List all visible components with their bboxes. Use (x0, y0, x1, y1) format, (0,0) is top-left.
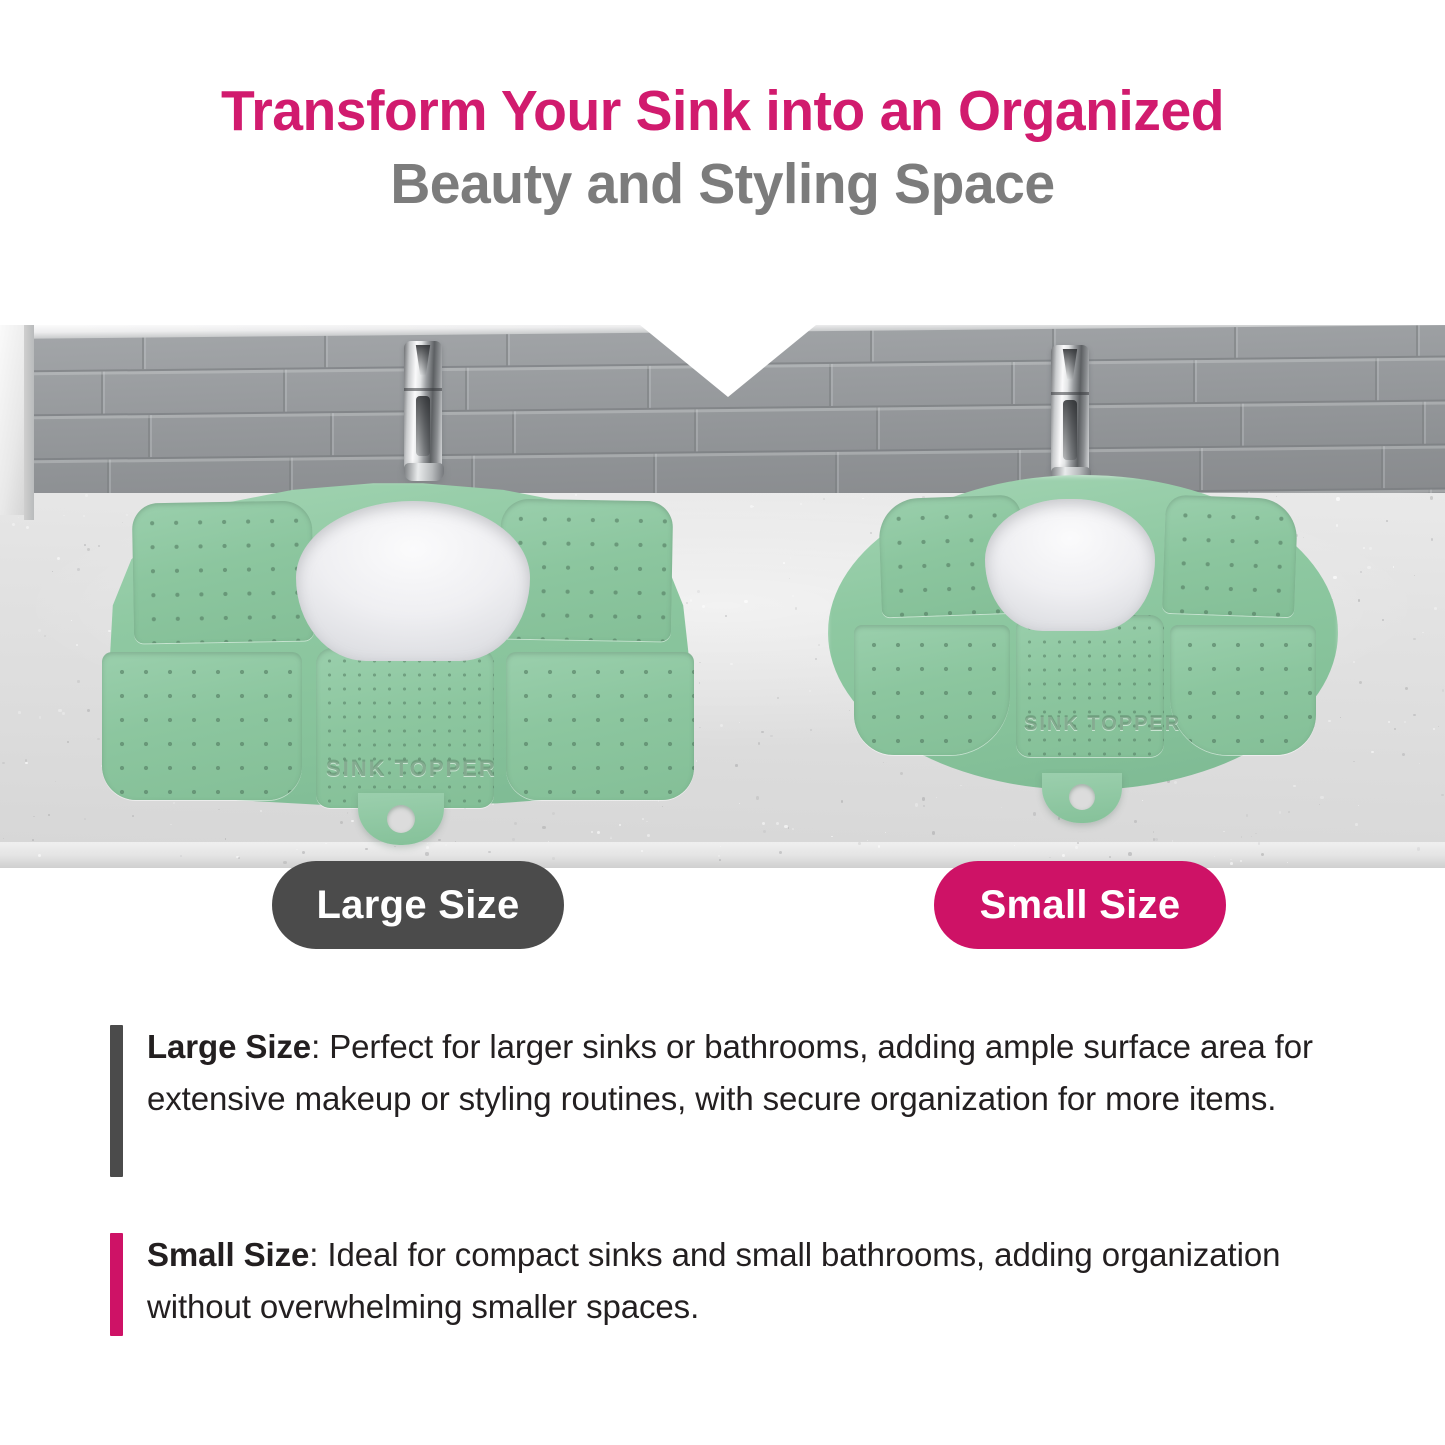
mat-panel-center (1016, 615, 1164, 757)
counter-speckle (815, 658, 817, 660)
description-small-term: Small Size (147, 1236, 309, 1273)
panel-dot-texture (1170, 625, 1316, 755)
counter-speckle (365, 848, 367, 850)
panel-dot-texture (132, 500, 314, 643)
counter-speckle (646, 821, 647, 822)
counter-speckle (1388, 721, 1390, 723)
counter-speckle (488, 851, 491, 854)
tile-seam (330, 413, 332, 455)
counter-speckle (77, 568, 80, 571)
counter-speckle (325, 843, 326, 844)
counter-speckle (597, 831, 600, 834)
counter-front-lip (0, 842, 1445, 868)
counter-speckle (552, 812, 555, 815)
counter-speckle (1441, 794, 1443, 796)
counter-speckle (351, 820, 354, 823)
counter-speckle (762, 822, 765, 825)
tile-seam (101, 372, 103, 414)
counter-speckle (1413, 638, 1415, 640)
mat-panel-lower-left (854, 625, 1010, 755)
counter-speckle (542, 826, 545, 829)
counter-speckle (18, 711, 21, 714)
counter-speckle (132, 815, 134, 817)
counter-speckle (83, 515, 85, 517)
counter-speckle (425, 852, 428, 855)
counter-speckle (784, 825, 787, 828)
counter-speckle (394, 846, 395, 847)
size-badge-large-label: Large Size (316, 883, 519, 928)
description-small-separator: : (309, 1236, 327, 1273)
counter-speckle (347, 812, 349, 814)
counter-speckle (725, 615, 727, 617)
counter-speckle (1402, 753, 1405, 756)
counter-speckle (25, 759, 27, 761)
counter-speckle (514, 822, 517, 825)
counter-speckle (84, 818, 86, 820)
counter-speckle (33, 816, 34, 817)
counter-speckle (12, 523, 14, 525)
counter-speckle (1033, 812, 1037, 816)
counter-speckle (788, 827, 789, 828)
counter-speckle (735, 764, 738, 767)
counter-speckle (763, 830, 766, 833)
counter-speckle (1128, 852, 1132, 856)
counter-speckle (1240, 860, 1242, 862)
counter-speckle (1355, 823, 1358, 826)
counter-speckle (758, 742, 761, 745)
counter-speckle (1319, 804, 1320, 805)
panel-dot-texture (102, 652, 302, 800)
counter-speckle (923, 805, 925, 807)
counter-speckle (1288, 811, 1290, 813)
counter-speckle (1353, 761, 1355, 763)
counter-speckle (76, 644, 78, 646)
counter-speckle (426, 846, 429, 849)
headline-primary: Transform Your Sink into an Organized (22, 82, 1424, 141)
counter-speckle (438, 839, 440, 841)
counter-speckle (71, 620, 72, 621)
panel-dot-texture (506, 652, 694, 800)
panel-dot-texture-fine (1016, 615, 1164, 757)
counter-speckle (1369, 547, 1371, 549)
mat-panel-upper-right (1162, 495, 1298, 618)
counter-speckle (641, 850, 643, 852)
counter-speckle (761, 731, 763, 733)
mat-panel-center (316, 648, 494, 808)
counter-speckle (1419, 763, 1420, 764)
counter-speckle (720, 846, 721, 847)
counter-speckle (783, 562, 785, 564)
counter-speckle (1413, 714, 1415, 716)
description-large-text: Large Size: Perfect for larger sinks or … (147, 1021, 1360, 1125)
counter-speckle (744, 600, 747, 603)
counter-speckle (770, 735, 772, 737)
counter-speckle (62, 712, 65, 715)
panel-dot-texture (1162, 495, 1298, 618)
counter-speckle (720, 724, 723, 727)
wall-left-edge (24, 325, 34, 520)
tile-seam (1193, 360, 1195, 402)
counter-speckle (795, 607, 797, 609)
counter-speckle (260, 810, 262, 812)
counter-speckle (922, 797, 925, 800)
counter-speckle (1340, 717, 1341, 718)
tile-seam (1011, 362, 1013, 404)
counter-speckle (1382, 619, 1384, 621)
counter-speckle (18, 517, 19, 518)
headline-block: Transform Your Sink into an Organized Be… (0, 82, 1445, 215)
counter-speckle (936, 797, 937, 798)
counter-speckle (591, 831, 593, 833)
counter-speckle (642, 818, 644, 820)
mat-panel-lower-right (1170, 625, 1316, 755)
mat-opening-small (985, 499, 1155, 631)
counter-speckle (238, 857, 240, 859)
description-small-text: Small Size: Ideal for compact sinks and … (147, 1229, 1360, 1333)
description-large-separator: : (311, 1028, 329, 1065)
counter-speckle (1434, 607, 1437, 610)
counter-speckle (1371, 751, 1374, 754)
counter-speckle (44, 635, 46, 637)
tile-seam (647, 366, 649, 408)
counter-speckle (1153, 831, 1154, 832)
counter-speckle (1279, 811, 1281, 813)
tile-seam (1375, 358, 1377, 400)
counter-speckle (779, 851, 782, 854)
counter-speckle (1358, 599, 1361, 602)
faucet-shadow (1063, 400, 1077, 460)
mat-panel-lower-right (506, 652, 694, 800)
counter-speckle (39, 716, 41, 718)
tile-seam (512, 411, 514, 453)
tile-seam (1416, 325, 1418, 356)
counter-speckle (823, 498, 825, 500)
counter-speckle (1251, 836, 1252, 837)
counter-speckle (283, 861, 286, 864)
counter-speckle (1393, 566, 1395, 568)
counter-speckle (1246, 814, 1249, 817)
tile-seam (1234, 325, 1236, 358)
counter-speckle (2, 762, 4, 764)
counter-speckle (1360, 571, 1362, 573)
counter-speckle (777, 697, 778, 698)
counter-speckle (810, 729, 812, 731)
counter-speckle (718, 855, 720, 857)
counter-speckle (1363, 547, 1365, 549)
counter-speckle (800, 503, 802, 505)
counter-speckle (225, 838, 226, 839)
counter-speckle (647, 834, 650, 837)
faucet-spout-icon (1052, 349, 1088, 379)
counter-speckle (1134, 820, 1137, 823)
counter-speckle (1438, 726, 1439, 727)
panel-dot-texture (854, 625, 1010, 755)
tile-seam (694, 409, 696, 451)
counter-speckle (1255, 833, 1257, 835)
tile-seam (876, 407, 878, 449)
tile-seam (1422, 402, 1424, 444)
mat-hanger-hole-small (1069, 784, 1095, 810)
counter-speckle (792, 828, 794, 830)
counter-speckle (1442, 689, 1444, 691)
tile-seam (1381, 446, 1383, 488)
counter-speckle (885, 832, 886, 833)
description-large: Large Size: Perfect for larger sinks or … (110, 1021, 1360, 1125)
counter-speckle (789, 578, 790, 579)
accent-bar-small (110, 1233, 123, 1336)
faucet-shadow (416, 396, 430, 456)
size-badge-large[interactable]: Large Size (272, 861, 564, 949)
mat-panel-lower-left (102, 652, 302, 800)
product-photo: SINK TOPPER SINK TOPPER (0, 325, 1445, 868)
mat-hanger-hole-large (387, 805, 415, 833)
tile-seam (283, 370, 285, 412)
counter-speckle (77, 680, 80, 683)
counter-speckle (776, 822, 779, 825)
panel-dot-texture-fine (316, 648, 494, 808)
counter-speckle (55, 781, 56, 782)
headline-secondary: Beauty and Styling Space (22, 155, 1424, 214)
counter-speckle (867, 840, 868, 841)
counter-speckle (1433, 728, 1435, 730)
counter-speckle (1394, 728, 1396, 730)
counter-speckle (753, 506, 754, 507)
counter-speckle (67, 741, 69, 743)
tile-seam (829, 364, 831, 406)
counter-speckle (38, 629, 41, 632)
counter-speckle (48, 814, 50, 816)
counter-speckle (63, 515, 64, 516)
faucet-base (404, 463, 444, 481)
counter-speckle (739, 722, 740, 723)
counter-speckle (809, 690, 812, 693)
counter-speckle (818, 644, 820, 646)
tile-seam (148, 415, 150, 457)
counter-speckle (730, 663, 733, 666)
counter-speckle (1142, 800, 1143, 801)
mat-panel-upper-left (132, 500, 314, 643)
counter-speckle (1320, 796, 1323, 799)
counter-speckle (1358, 805, 1359, 806)
counter-speckle (831, 836, 832, 837)
tile-seam (465, 368, 467, 410)
counter-speckle (26, 526, 29, 529)
counter-speckle (1223, 831, 1224, 832)
counter-speckle (340, 821, 343, 824)
counter-speckle (1430, 496, 1434, 500)
description-large-term: Large Size (147, 1028, 311, 1065)
accent-bar-large (110, 1025, 123, 1177)
faucet-neck (404, 341, 442, 469)
counter-speckle (792, 595, 794, 597)
counter-speckle (1359, 681, 1362, 684)
faucet-handle-seam (404, 388, 442, 391)
counter-speckle (445, 844, 447, 846)
counter-speckle (790, 557, 791, 558)
counter-speckle (25, 762, 28, 765)
wall-left-return (0, 325, 26, 515)
counter-speckle (610, 836, 613, 839)
faucet-neck (1051, 345, 1089, 473)
counter-speckle (32, 839, 34, 841)
counter-speckle (170, 824, 171, 825)
faucet-spout-icon (405, 345, 441, 375)
infographic-page: Transform Your Sink into an Organized Be… (0, 0, 1445, 1445)
counter-speckle (915, 803, 918, 806)
faucet-handle-seam (1051, 392, 1089, 395)
counter-speckle (1155, 838, 1158, 841)
counter-speckle (1367, 566, 1370, 569)
counter-speckle (58, 709, 61, 712)
counter-speckle (84, 544, 86, 546)
counter-speckle (1405, 687, 1408, 690)
counter-speckle (1386, 520, 1388, 522)
description-small: Small Size: Ideal for compact sinks and … (110, 1229, 1360, 1333)
counter-speckle (756, 796, 759, 799)
counter-speckle (1353, 661, 1355, 663)
counter-speckle (1001, 807, 1002, 808)
counter-speckle (1404, 721, 1406, 723)
counter-speckle (841, 800, 843, 802)
counter-speckle (619, 824, 621, 826)
mat-opening-large (296, 501, 530, 661)
size-badge-small-label: Small Size (980, 883, 1181, 928)
counter-speckle (57, 557, 60, 560)
counter-speckle (1230, 862, 1233, 865)
counter-speckle (52, 571, 53, 572)
counter-speckle (1414, 575, 1415, 576)
counter-speckle (750, 505, 753, 508)
size-badge-small[interactable]: Small Size (934, 861, 1226, 949)
counter-speckle (739, 803, 740, 804)
counter-speckle (3, 838, 5, 840)
counter-speckle (1431, 538, 1434, 541)
counter-speckle (512, 838, 515, 841)
tile-seam (1240, 404, 1242, 446)
counter-speckle (1241, 836, 1242, 837)
counter-speckle (1422, 632, 1423, 633)
counter-speckle (932, 831, 936, 835)
